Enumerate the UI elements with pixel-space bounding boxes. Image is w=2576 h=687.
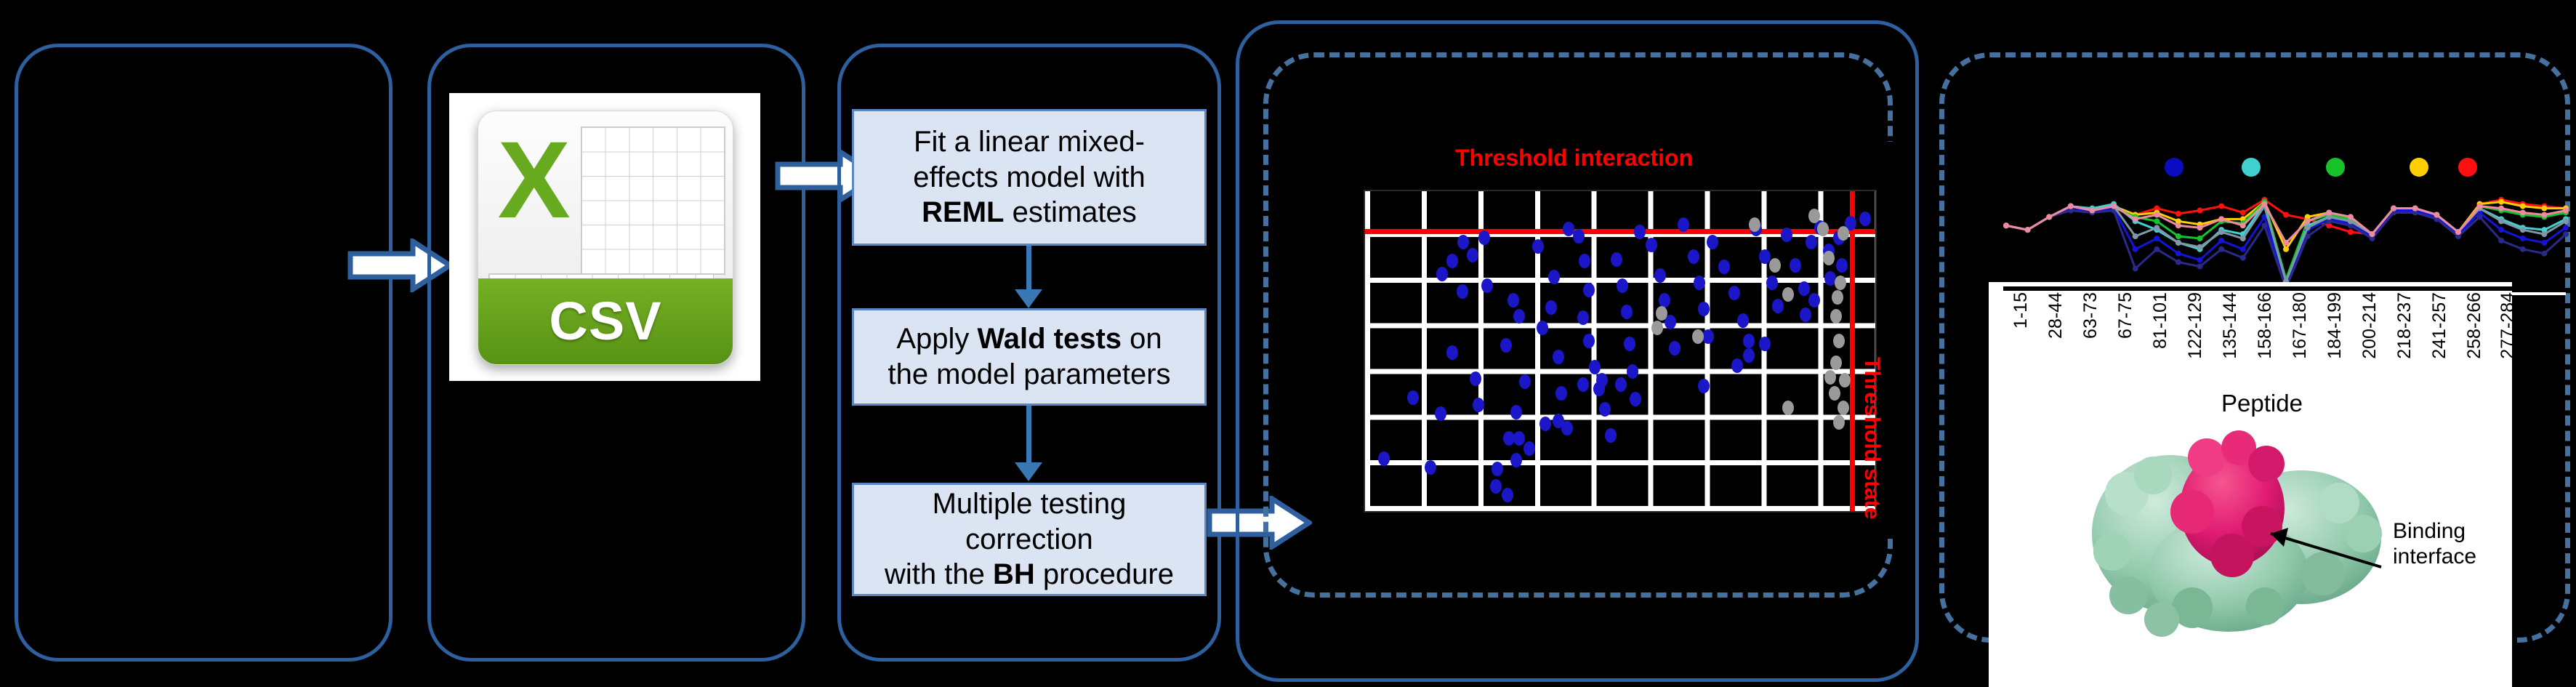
- box-multiple-testing: Multiple testing correction with the BH …: [852, 483, 1207, 596]
- data-point: [1545, 300, 1557, 315]
- series-marker: [2348, 229, 2354, 235]
- legend-dot-blue: [2165, 158, 2183, 177]
- x-axis-line: [2003, 286, 2512, 291]
- data-point: [1500, 338, 1512, 353]
- data-point: [1621, 305, 1633, 319]
- data-point: [1577, 310, 1589, 325]
- data-point-grey: [1838, 401, 1849, 415]
- data-point: [1524, 441, 1535, 456]
- threshold-state-label: Threshold state: [1859, 357, 1884, 519]
- data-point: [1678, 217, 1689, 232]
- series-marker: [2348, 214, 2354, 220]
- data-point-grey: [1823, 251, 1835, 265]
- series-marker: [2025, 227, 2031, 233]
- x-tick-label: 1-15: [2011, 292, 2032, 329]
- connector-1-arrowhead: [1015, 289, 1042, 308]
- box-wald-tests-text: Apply Wald tests on the model parameters: [887, 321, 1170, 393]
- data-point: [1555, 386, 1567, 401]
- series-marker: [2218, 229, 2224, 235]
- x-tick-label: 277-284: [2497, 292, 2512, 359]
- series-marker: [2520, 246, 2526, 252]
- legend-dot-red: [2458, 158, 2477, 177]
- series-marker: [2498, 227, 2504, 233]
- data-point: [1407, 390, 1419, 405]
- series-marker: [2477, 204, 2483, 209]
- series-marker: [2563, 231, 2569, 237]
- legend-dot-cyan: [2242, 158, 2261, 177]
- excel-x-glyph: X: [491, 116, 577, 243]
- data-point: [1548, 270, 1560, 284]
- series-marker: [2520, 204, 2526, 209]
- data-point-grey: [1817, 222, 1829, 236]
- series-marker: [2046, 214, 2052, 220]
- series-marker: [2434, 212, 2439, 217]
- data-point-grey: [1824, 370, 1836, 385]
- x-tick-label: 122-129: [2185, 292, 2206, 359]
- x-tick-label: 135-144: [2220, 292, 2241, 359]
- series-legend: [2130, 149, 2522, 178]
- data-point: [1728, 286, 1740, 300]
- x-tick-labels: 1-15 28-44 63-73 67-75 81-101 122-129 13…: [1989, 292, 2512, 379]
- series-marker: [2369, 231, 2375, 237]
- box-model-fit: Fit a linear mixed- effects model with R…: [852, 109, 1207, 246]
- data-point: [1806, 235, 1817, 249]
- series-marker: [2197, 244, 2203, 250]
- connector-1: [1026, 246, 1031, 291]
- data-point: [1490, 479, 1502, 494]
- data-point: [1573, 229, 1585, 244]
- series-marker: [2154, 236, 2160, 241]
- series-marker: [2563, 218, 2569, 224]
- series-marker: [2541, 212, 2547, 217]
- data-point: [1446, 254, 1458, 268]
- series-marker: [2218, 238, 2224, 244]
- data-point: [1611, 252, 1622, 267]
- series-marker: [2283, 240, 2289, 246]
- series-marker: [2261, 201, 2267, 207]
- series-marker: [2305, 218, 2311, 224]
- series-marker: [2197, 257, 2203, 263]
- series-marker: [2326, 209, 2332, 215]
- data-point-grey: [1830, 309, 1842, 324]
- data-point: [1759, 337, 1771, 351]
- x-tick-label: 167-180: [2290, 292, 2311, 359]
- csv-file-icon: X CSV: [478, 111, 734, 365]
- series-marker: [2197, 208, 2203, 214]
- x-tick-label: 218-237: [2394, 292, 2415, 359]
- x-tick-label: 158-166: [2255, 292, 2276, 359]
- connector-2-arrowhead: [1015, 462, 1042, 481]
- series-marker: [2089, 208, 2095, 214]
- series-marker: [2563, 208, 2569, 214]
- data-point-grey: [1782, 401, 1794, 415]
- series-marker: [2541, 206, 2547, 212]
- data-point-grey: [1835, 276, 1846, 290]
- input-panel: [15, 44, 393, 662]
- x-tick-label: 81-101: [2150, 292, 2171, 349]
- data-point: [1502, 488, 1513, 502]
- series-marker: [2240, 209, 2246, 215]
- series-marker: [2197, 225, 2203, 230]
- data-point: [1718, 260, 1730, 274]
- box-wald-tests: Apply Wald tests on the model parameters: [852, 308, 1207, 406]
- series-marker: [2541, 231, 2547, 237]
- data-point: [1579, 254, 1590, 268]
- data-point: [1702, 329, 1714, 344]
- data-point: [1470, 371, 1481, 386]
- data-point: [1836, 258, 1848, 273]
- csv-label: CSV: [549, 290, 661, 352]
- data-point-grey: [1749, 217, 1760, 232]
- data-point: [1513, 431, 1525, 446]
- data-point: [1457, 235, 1469, 249]
- data-point: [1532, 239, 1544, 254]
- x-tick-label: 28-44: [2045, 292, 2066, 339]
- data-point: [1561, 421, 1573, 435]
- series-marker: [2154, 225, 2160, 230]
- data-point: [1539, 417, 1551, 431]
- series-marker: [2240, 222, 2246, 228]
- data-point-grey: [1769, 258, 1781, 273]
- x-tick-label: 258-266: [2464, 292, 2485, 359]
- series-marker: [2412, 206, 2418, 212]
- series-marker: [2455, 229, 2461, 235]
- threshold-interaction-line: [1365, 229, 1875, 234]
- data-point: [1646, 238, 1657, 252]
- series-marker: [2498, 238, 2504, 244]
- data-point-grey: [1833, 334, 1845, 348]
- series-marker: [2541, 240, 2547, 246]
- data-point: [1599, 402, 1611, 417]
- threshold-state-line: [1850, 191, 1855, 511]
- data-point-grey: [1656, 306, 1667, 321]
- peptide-line-chart: [1992, 180, 2573, 295]
- data-point: [1519, 374, 1531, 389]
- results-card: 0.0 1-15 28-44 63-73 67-75 81-101 122-12…: [1989, 282, 2512, 687]
- data-point: [1654, 268, 1666, 283]
- csv-label-band: CSV: [478, 278, 733, 364]
- data-point: [1743, 348, 1755, 363]
- series-marker: [2175, 260, 2181, 265]
- data-point: [1790, 258, 1801, 273]
- data-point: [1436, 267, 1448, 281]
- series-marker: [2240, 255, 2246, 261]
- series-marker: [2003, 222, 2009, 228]
- series-marker: [2218, 246, 2224, 252]
- box-model-fit-text: Fit a linear mixed- effects model with R…: [913, 124, 1145, 230]
- scatter-gridlines: [1365, 191, 1875, 511]
- data-point-grey: [1833, 415, 1845, 430]
- data-point: [1808, 293, 1820, 308]
- series-marker: [2154, 212, 2160, 217]
- x-tick-label: 63-73: [2080, 292, 2101, 339]
- data-point: [1698, 379, 1710, 393]
- data-point: [1510, 405, 1522, 419]
- data-point: [1467, 248, 1478, 262]
- protein-structure-image: [2083, 425, 2396, 643]
- series-marker: [2520, 209, 2526, 215]
- data-point: [1694, 276, 1705, 290]
- data-point: [1759, 249, 1771, 264]
- series-marker: [2520, 236, 2526, 241]
- data-point-grey: [1782, 287, 1794, 302]
- data-point: [1743, 334, 1755, 348]
- series-marker: [2133, 246, 2138, 252]
- data-point: [1737, 313, 1749, 328]
- scatter-plot-frame: Threshold state: [1364, 190, 1877, 513]
- data-point: [1492, 462, 1503, 476]
- data-point-grey: [1839, 373, 1851, 387]
- series-marker: [2541, 251, 2547, 257]
- legend-dot-yellow: [2410, 158, 2428, 177]
- scatter-plot: Threshold interaction: [1346, 142, 1910, 538]
- series-marker: [2477, 214, 2483, 220]
- series-marker: [2563, 225, 2569, 230]
- data-point: [1435, 406, 1446, 421]
- data-point: [1577, 377, 1589, 392]
- x-axis-title: Peptide: [2221, 390, 2303, 417]
- csv-grid-upper: [581, 126, 725, 275]
- scatter-title: Threshold interaction: [1455, 145, 1693, 172]
- series-marker: [2218, 216, 2224, 222]
- data-point: [1513, 309, 1525, 324]
- x-tick-label: 184-199: [2325, 292, 2346, 359]
- data-point: [1503, 431, 1515, 446]
- data-point: [1731, 358, 1743, 373]
- series-marker: [2111, 204, 2117, 209]
- series-marker: [2283, 212, 2289, 217]
- data-point: [1457, 284, 1468, 299]
- data-point: [1446, 345, 1458, 360]
- data-point: [1508, 293, 1519, 308]
- data-point: [1583, 283, 1595, 297]
- data-point: [1859, 212, 1871, 226]
- data-point: [1766, 276, 1778, 290]
- data-point-grey: [1808, 209, 1820, 223]
- series-marker: [2175, 222, 2181, 228]
- data-point: [1617, 278, 1628, 293]
- series-marker: [2175, 233, 2181, 239]
- data-point: [1589, 360, 1601, 374]
- data-point: [1781, 228, 1792, 242]
- data-point: [1659, 293, 1670, 308]
- data-point: [1688, 249, 1699, 264]
- data-point: [1627, 364, 1638, 379]
- series-marker: [2154, 218, 2160, 224]
- data-point: [1698, 302, 1710, 316]
- x-tick-label: 67-75: [2115, 292, 2136, 339]
- data-point: [1583, 334, 1595, 348]
- series-marker: [2133, 265, 2138, 271]
- series-marker: [2197, 263, 2203, 269]
- x-tick-label: 200-214: [2359, 292, 2380, 359]
- series-marker: [2154, 246, 2160, 252]
- data-point: [1798, 281, 1810, 296]
- data-point-grey: [1830, 355, 1842, 370]
- series-marker: [2133, 233, 2138, 239]
- figure-canvas: X CSV Fit a linear mixed- effects model …: [0, 0, 2576, 687]
- series-marker: [2391, 206, 2396, 212]
- data-point: [1800, 308, 1811, 322]
- data-point: [1596, 373, 1608, 387]
- series-marker: [2175, 251, 2181, 257]
- csv-icon-backdrop: X CSV: [449, 93, 760, 381]
- x-tick-label: 241-257: [2429, 292, 2450, 359]
- series-marker: [2498, 206, 2504, 212]
- connector-2: [1026, 406, 1031, 464]
- data-point-grey: [1829, 386, 1840, 401]
- series-marker: [2175, 240, 2181, 246]
- callout-line-1: Binding: [2393, 519, 2476, 545]
- series-marker: [2498, 199, 2504, 205]
- data-point: [1478, 230, 1490, 245]
- data-point: [1605, 428, 1617, 443]
- data-point: [1378, 451, 1390, 466]
- series-marker: [2218, 204, 2224, 209]
- data-point: [1473, 398, 1484, 412]
- data-point: [1510, 453, 1522, 467]
- data-point: [1481, 278, 1493, 293]
- series-marker: [2240, 246, 2246, 252]
- data-point: [1630, 392, 1641, 406]
- series-marker: [2068, 204, 2074, 209]
- binding-interface-callout: Binding interface: [2393, 519, 2476, 569]
- series-marker: [2498, 218, 2504, 224]
- legend-dot-green: [2326, 158, 2345, 177]
- data-point: [1615, 377, 1627, 392]
- data-point-grey: [1692, 329, 1704, 344]
- series-marker: [2175, 211, 2181, 217]
- box-multiple-testing-text: Multiple testing correction with the BH …: [885, 486, 1174, 592]
- series-marker: [2197, 236, 2203, 241]
- series-marker: [2305, 225, 2311, 230]
- data-point: [1537, 321, 1548, 335]
- data-point-grey: [1838, 226, 1849, 241]
- callout-line-2: interface: [2393, 545, 2476, 570]
- data-point: [1634, 225, 1646, 239]
- data-point-grey: [1832, 290, 1843, 305]
- data-point: [1669, 341, 1681, 355]
- data-point-grey: [1651, 321, 1663, 335]
- series-marker: [2261, 222, 2267, 228]
- series-marker: [2240, 236, 2246, 241]
- series-marker: [2520, 227, 2526, 233]
- data-point: [1707, 235, 1718, 249]
- series-marker: [2133, 216, 2138, 222]
- data-point: [1553, 350, 1564, 364]
- data-point: [1425, 460, 1436, 475]
- data-point: [1624, 337, 1635, 351]
- data-point: [1772, 299, 1784, 313]
- series-marker: [2283, 246, 2289, 252]
